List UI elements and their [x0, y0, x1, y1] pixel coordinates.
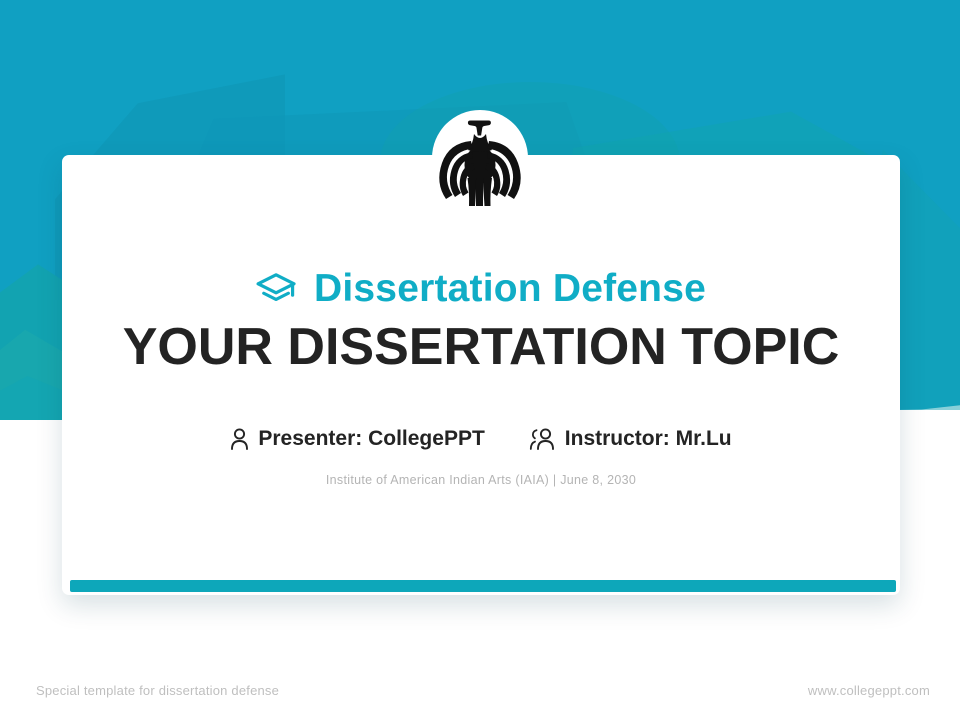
instructor-label: Instructor: Mr.Lu — [565, 427, 732, 451]
footer-left-text: Special template for dissertation defens… — [36, 683, 279, 698]
footer-website-link[interactable]: www.collegeppt.com — [808, 683, 930, 698]
card-content: Dissertation Defense YOUR DISSERTATION T… — [62, 155, 900, 580]
people-icon — [529, 428, 556, 450]
eyebrow-title: Dissertation Defense — [314, 267, 706, 311]
instructor-block: Instructor: Mr.Lu — [529, 427, 732, 451]
person-icon — [230, 428, 249, 450]
card-accent-bar — [70, 580, 896, 592]
people-row: Presenter: CollegePPT Instructor: Mr.Lu — [230, 427, 731, 451]
graduation-cap-icon — [256, 272, 298, 306]
presentation-slide: Dissertation Defense YOUR DISSERTATION T… — [0, 0, 960, 720]
page-title: YOUR DISSERTATION TOPIC — [123, 317, 840, 377]
presenter-block: Presenter: CollegePPT — [230, 427, 484, 451]
institution-date-line: Institute of American Indian Arts (IAIA)… — [326, 473, 636, 487]
eyebrow-row: Dissertation Defense — [256, 267, 706, 311]
presenter-label: Presenter: CollegePPT — [258, 427, 484, 451]
